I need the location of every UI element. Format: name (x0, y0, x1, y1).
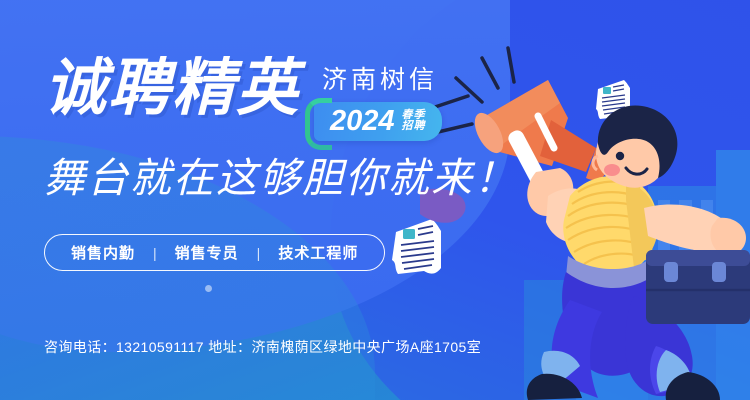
slogan: 舞台就在这够胆你就来！ (44, 158, 517, 199)
company-name: 济南树信 (322, 66, 438, 95)
badge-year: 2024 (330, 107, 395, 136)
badge-recruit: 招聘 (402, 121, 426, 133)
separator: | (257, 245, 261, 261)
brand-stack: 济南树信 2024 春季 招聘 (314, 58, 442, 141)
separator: | (153, 245, 157, 261)
positions-pill: 销售内勤 | 销售专员 | 技术工程师 (44, 234, 385, 271)
season-badge: 2024 春季 招聘 (314, 102, 442, 141)
badge-subtext: 春季 招聘 (402, 110, 426, 133)
position-item[interactable]: 技术工程师 (278, 242, 358, 263)
position-item[interactable]: 销售专员 (175, 242, 239, 263)
content-layer: 诚聘精英 济南树信 2024 春季 招聘 舞台就在这够胆你就来！ 销售内勤 (0, 0, 750, 400)
position-item[interactable]: 销售内勤 (71, 242, 135, 263)
headline-row: 诚聘精英 济南树信 2024 春季 招聘 (44, 58, 442, 141)
page-title: 诚聘精英 (44, 58, 300, 120)
recruitment-banner: 诚聘精英 济南树信 2024 春季 招聘 舞台就在这够胆你就来！ 销售内勤 (0, 0, 750, 400)
badge-body: 2024 春季 招聘 (314, 102, 442, 141)
badge-accent-bracket (305, 98, 332, 150)
contact-info: 咨询电话：13210591117 地址：济南槐荫区绿地中央广场A座1705室 (44, 337, 481, 357)
